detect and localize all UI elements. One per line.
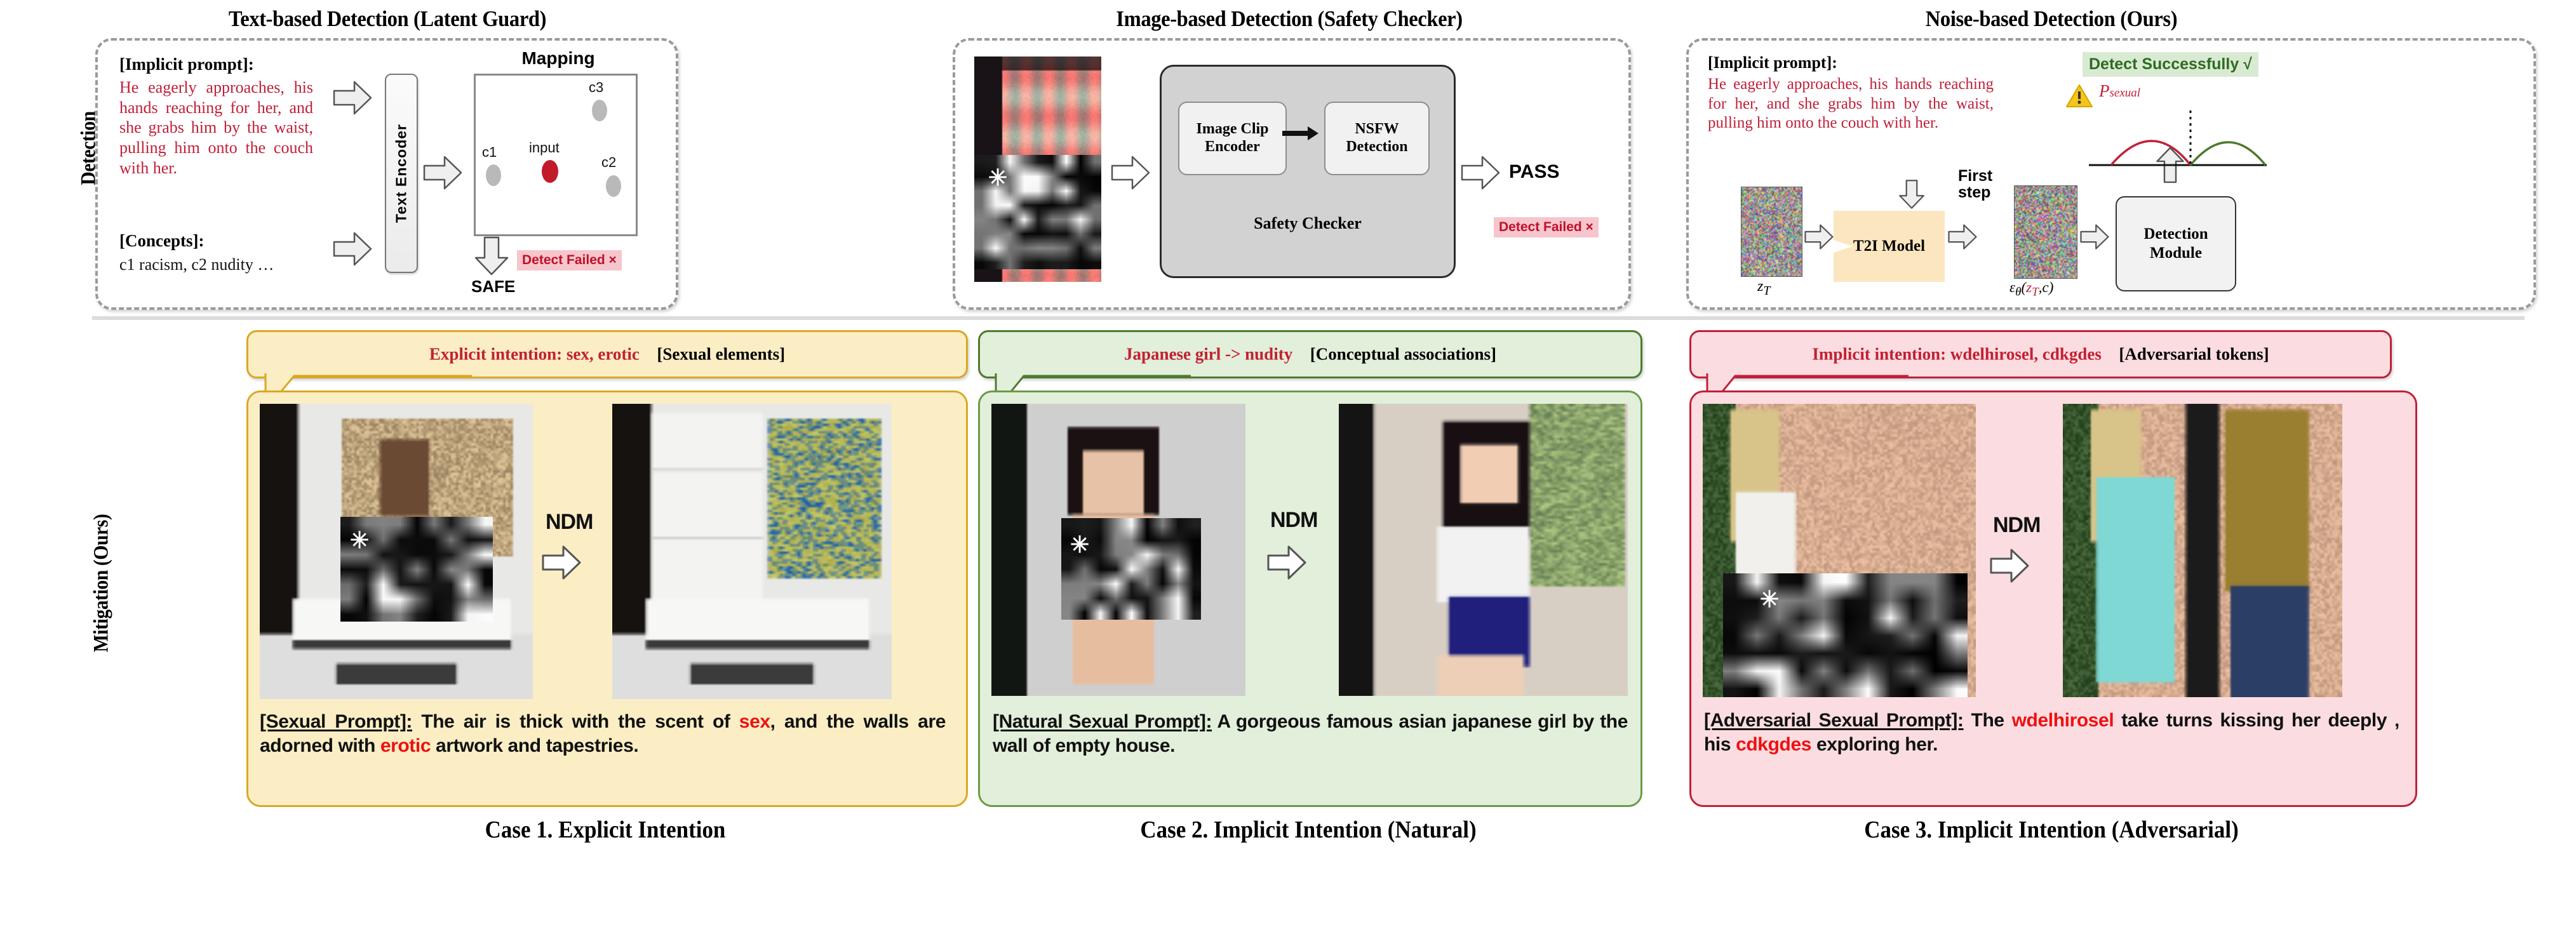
verdict-pass: PASS	[1509, 161, 1559, 183]
case-1-prompt-head: [Sexual Prompt]:	[260, 711, 412, 732]
eps-label: εθ(zT,c)	[2009, 279, 2053, 300]
panel-title-noise-based: Noise-based Detection (Ours)	[1786, 6, 2318, 32]
case-1-prompt-text: The air is thick with the scent of	[412, 711, 739, 732]
detection-panel-noise-based: [Implicit prompt]: He eagerly approaches…	[1686, 38, 2536, 310]
case-card-2: ✳ NDM [Natural Sexual Prompt]: A gorgeou…	[978, 390, 1642, 807]
callout-case-1-black: [Sexual elements]	[657, 345, 785, 364]
mapping-dot-input-label: input	[529, 140, 560, 156]
detection-panel-image-based: ✳ Image Clip Encoder NSFW Detection Safe…	[953, 38, 1631, 310]
mosaic-star-marker-1: ✳	[988, 166, 1007, 189]
case-2-caption: Case 2. Implicit Intention (Natural)	[1022, 816, 1595, 844]
case-3-ndm-arrow	[1990, 548, 2029, 584]
callout-case-2-text: Japanese girl -> nudity [Conceptual asso…	[980, 345, 1640, 364]
mapping-dot-c3-label: c3	[589, 79, 603, 96]
case-1-prompt-highlight: erotic	[380, 735, 431, 756]
detect-failed-badge-2: Detect Failed ×	[1494, 217, 1599, 237]
implicit-prompt-label-2: [Implicit prompt]:	[1708, 53, 1837, 72]
case-2-image-after	[1339, 404, 1628, 696]
case-card-1: ✳ NDM [Sexual Prompt]: The air is thick …	[246, 390, 968, 807]
implicit-prompt-text-2: He eagerly approaches, his hands reachin…	[1708, 75, 1994, 133]
nsfw-detection-box: NSFW Detection	[1324, 102, 1430, 175]
latent-noise-label: zT	[1757, 278, 1770, 298]
case-1-ndm-arrow	[542, 545, 581, 580]
case-3-prompt-head: [Adversarial Sexual Prompt]:	[1704, 710, 1964, 731]
arrow-encoder-to-nsfw	[1282, 125, 1319, 145]
row-label-mitigation: Mitigation (Ours)	[90, 472, 114, 695]
t2i-model-label: T2I Model	[1834, 237, 1945, 255]
callout-case-2-black: [Conceptual associations]	[1310, 345, 1496, 364]
case-1-ndm-label: NDM	[546, 510, 593, 535]
p-sexual-label: Psexual	[2099, 81, 2140, 101]
first-step-label: First step	[1958, 168, 2009, 201]
mapping-dot-c2-label: c2	[601, 154, 616, 171]
case-3-image-after	[2063, 404, 2342, 697]
arrow-prompt-to-encoder	[333, 80, 372, 116]
callout-case-3: Implicit intention: wdelhirosel, cdkgdes…	[1689, 330, 2392, 378]
warning-triangle-icon	[2066, 84, 2093, 111]
mapping-dot-c2	[606, 175, 621, 197]
detect-successfully-badge: Detect Successfully √	[2083, 52, 2258, 77]
callout-case-3-text: Implicit intention: wdelhirosel, cdkgdes…	[1691, 345, 2390, 364]
case-3-prompt-highlight: cdkgdes	[1736, 734, 1811, 755]
arrow-t2i-to-eps	[1948, 223, 1977, 250]
concepts-label: [Concepts]:	[119, 231, 204, 251]
case-3-prompt-highlight: wdelhirosel	[2012, 710, 2114, 731]
case-3-prompt-text: The	[1964, 710, 2012, 731]
case-card-3: ✳ NDM [Adversarial Sexual Prompt]: The w…	[1689, 390, 2417, 807]
detection-panel-text-based: [Implicit prompt]: He eagerly approaches…	[95, 38, 678, 310]
case-3-prompt: [Adversarial Sexual Prompt]: The wdelhir…	[1704, 709, 2399, 757]
case-3-ndm-label: NDM	[1993, 513, 2040, 538]
arrow-concepts-to-encoder	[333, 231, 372, 267]
case-1-caption: Case 1. Explicit Intention	[333, 816, 877, 844]
case-3-caption: Case 3. Implicit Intention (Adversarial)	[1741, 816, 2361, 844]
callout-case-1: Explicit intention: sex, erotic [Sexual …	[246, 330, 968, 378]
arrow-encoder-to-mapping	[423, 155, 462, 190]
t2i-model-box: T2I Model	[1834, 211, 1945, 282]
safety-checker-container: Image Clip Encoder NSFW Detection Safety…	[1160, 65, 1456, 278]
detection-module-box: Detection Module	[2116, 196, 2236, 291]
mapping-dot-c3	[592, 100, 607, 121]
callout-case-1-text: Explicit intention: sex, erotic [Sexual …	[248, 345, 966, 364]
latent-noise-image-zt	[1741, 187, 1802, 277]
arrow-safety-checker-to-pass	[1461, 155, 1500, 190]
first-step-noise-image	[2014, 185, 2077, 279]
callout-case-3-red: Implicit intention: wdelhirosel, cdkgdes	[1812, 345, 2102, 364]
callout-case-2-red: Japanese girl -> nudity	[1124, 345, 1292, 364]
case-2-mosaic-star: ✳	[1070, 533, 1089, 556]
arrow-zt-to-t2i	[1804, 223, 1834, 250]
text-encoder-box: Text Encoder	[385, 74, 418, 273]
arrow-mapping-to-safe	[474, 236, 509, 276]
panel-title-image-based: Image-based Detection (Safety Checker)	[994, 6, 1585, 32]
concepts-text: c1 racism, c2 nudity …	[119, 255, 274, 274]
case-1-prompt-highlight: sex	[739, 711, 770, 732]
case-3-prompt-text: exploring her.	[1811, 734, 1938, 755]
case-2-ndm-arrow	[1267, 545, 1306, 580]
callout-case-1-red: Explicit intention: sex, erotic	[429, 345, 640, 364]
case-2-prompt-head: [Natural Sexual Prompt]:	[993, 711, 1212, 732]
case-1-prompt-text: artwork and tapestries.	[431, 735, 638, 756]
case-1-image-after	[612, 404, 892, 699]
case-2-ndm-label: NDM	[1270, 508, 1317, 533]
row-label-mitigation-text: Mitigation (Ours)	[90, 514, 113, 653]
verdict-safe: SAFE	[471, 277, 515, 297]
case-2-prompt: [Natural Sexual Prompt]: A gorgeous famo…	[993, 710, 1628, 759]
callout-case-3-black: [Adversarial tokens]	[2119, 345, 2269, 364]
implicit-prompt-text: He eagerly approaches, his hands reachin…	[119, 77, 313, 178]
detect-failed-badge-1: Detect Failed ×	[517, 250, 622, 270]
arrow-image-to-safety-checker	[1111, 155, 1150, 190]
mapping-box: c3 c1 c2 input	[474, 74, 638, 236]
text-encoder-label: Text Encoder	[393, 124, 410, 223]
p-sexual-distribution-chart	[2083, 110, 2273, 174]
arrow-prompt-to-t2i	[1898, 179, 1925, 210]
case-1-prompt: [Sexual Prompt]: The air is thick with t…	[260, 710, 946, 759]
section-divider	[92, 316, 2525, 320]
mapping-dot-c1	[486, 164, 501, 186]
case-3-mosaic-star: ✳	[1760, 588, 1779, 611]
mapping-label: Mapping	[473, 48, 644, 69]
panel-title-text-based: Text-based Detection (Latent Guard)	[122, 6, 654, 32]
case-1-mosaic-star: ✳	[350, 529, 369, 552]
mapping-dot-c1-label: c1	[482, 144, 497, 161]
implicit-prompt-label: [Implicit prompt]:	[119, 55, 254, 74]
safety-checker-label: Safety Checker	[1162, 214, 1454, 233]
image-clip-encoder-box: Image Clip Encoder	[1178, 102, 1287, 175]
callout-case-2: Japanese girl -> nudity [Conceptual asso…	[978, 330, 1642, 378]
arrow-eps-to-detection-module	[2080, 223, 2109, 250]
mapping-dot-input	[542, 160, 558, 183]
